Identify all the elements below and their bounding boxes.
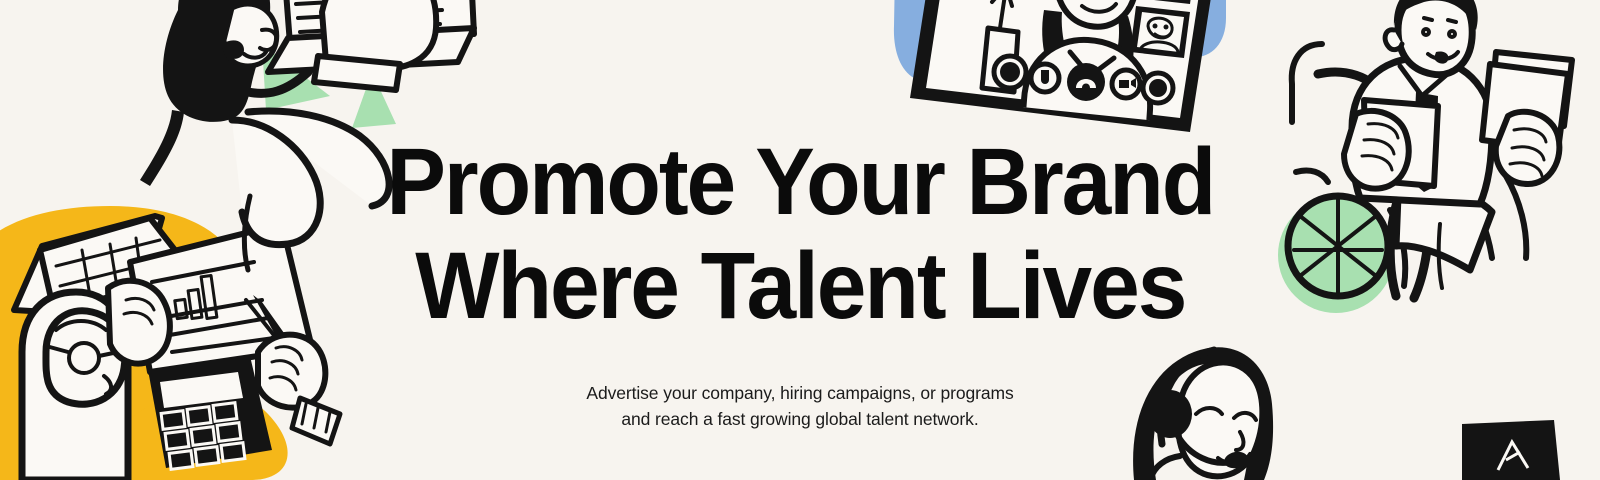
- subtitle-line-2: and reach a fast growing global talent n…: [586, 406, 1013, 432]
- page-subtitle: Advertise your company, hiring campaigns…: [586, 380, 1013, 432]
- promo-banner: .ink { fill:none; stroke:#141414; stroke…: [0, 0, 1600, 480]
- subtitle-line-1: Advertise your company, hiring campaigns…: [586, 380, 1013, 406]
- headline-line-1: Promote Your Brand: [386, 130, 1214, 234]
- copy-block: Promote Your Brand Where Talent Lives Ad…: [0, 0, 1600, 480]
- page-title: Promote Your Brand Where Talent Lives: [386, 0, 1214, 338]
- headline-line-2: Where Talent Lives: [386, 234, 1214, 338]
